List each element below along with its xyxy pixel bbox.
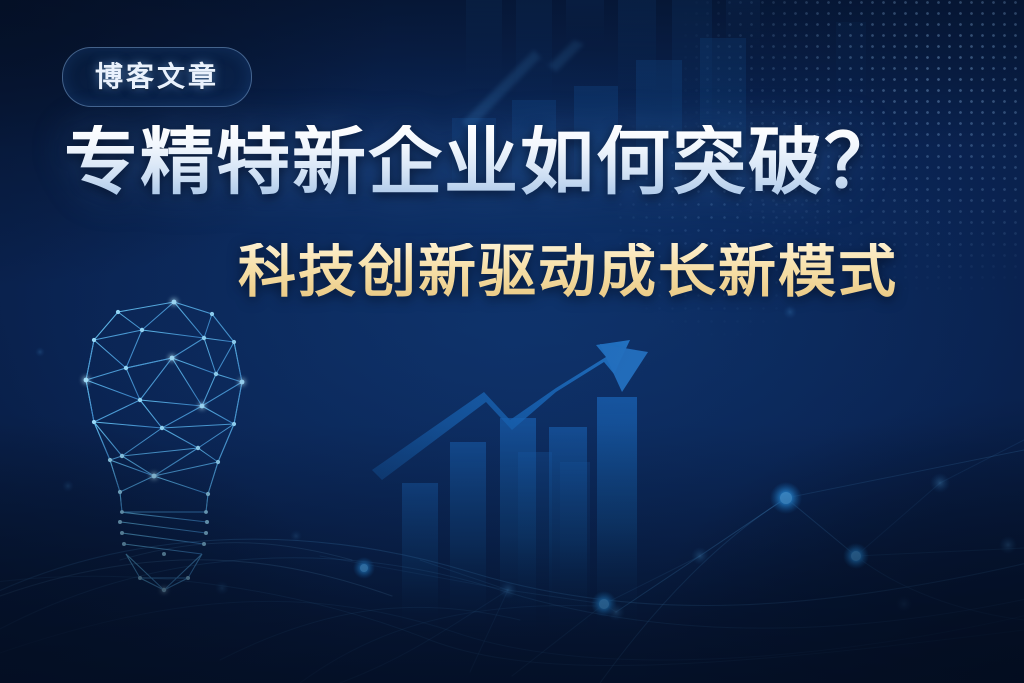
page-subtitle: 科技创新驱动成长新模式 — [238, 243, 898, 301]
badge-label: 博客文章 — [95, 63, 219, 91]
blog-article-badge[interactable]: 博客文章 — [62, 47, 252, 107]
poster-canvas: 博客文章 专精特新企业如何突破？ 科技创新驱动成长新模式 — [0, 0, 1024, 683]
page-title: 专精特新企业如何突破？ — [64, 125, 900, 199]
